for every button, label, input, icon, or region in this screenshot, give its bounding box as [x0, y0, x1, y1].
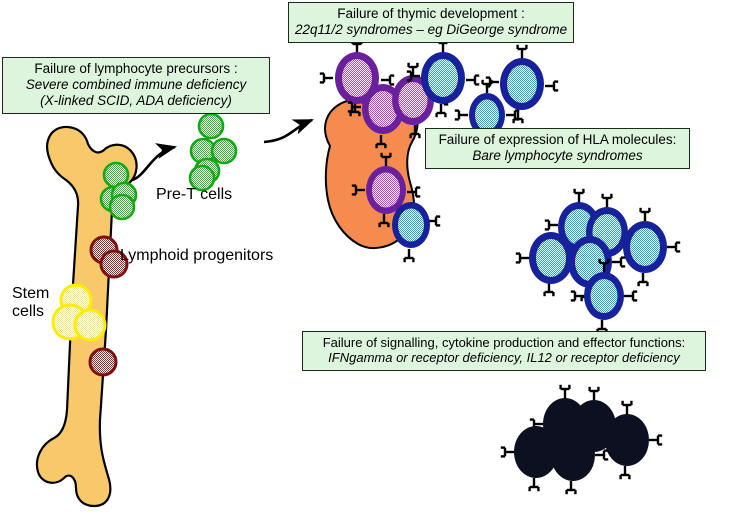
callout-lymphocyte-precursors: Failure of lymphocyte precursors : Sever…: [2, 57, 270, 114]
effector-t-cell-black: [605, 401, 662, 479]
arrow-pre-t-to-thymus: [264, 120, 312, 142]
callout-line-1: Failure of expression of HLA molecules:: [432, 132, 683, 148]
callout-line-1: Failure of thymic development :: [295, 6, 567, 22]
callout-line-2: Bare lymphocyte syndromes: [432, 148, 683, 164]
callout-line-2: IFNgamma or receptor deficiency, IL12 or…: [309, 350, 699, 365]
callout-line-3: (X-linked SCID, ADA deficiency): [9, 93, 263, 109]
callout-line-1: Failure of signalling, cytokine producti…: [309, 335, 699, 350]
callout-signalling-failure: Failure of signalling, cytokine producti…: [302, 331, 706, 371]
callout-thymic-development: Failure of thymic development : 22q11/2 …: [288, 2, 574, 43]
callout-line-1: Failure of lymphocyte precursors :: [9, 61, 263, 77]
callout-hla-expression: Failure of expression of HLA molecules: …: [425, 128, 690, 169]
label-lymphoid-progenitors: Lymphoid progenitors: [120, 247, 273, 265]
mature-t-cell-blue: [516, 232, 573, 296]
callout-line-2: 22q11/2 syndromes – eg DiGeorge syndrome: [295, 22, 567, 38]
label-pre-t-cells: Pre-T cells: [156, 186, 232, 204]
effector-t-cell-black: [501, 426, 558, 491]
diagram-canvas: Failure of thymic development : 22q11/2 …: [0, 0, 740, 524]
label-stem-cells: Stem cells: [12, 285, 49, 321]
mature-t-cell-blue: [392, 202, 440, 262]
arrow-marrow-to-pre-t: [132, 147, 175, 180]
callout-line-2: Severe combined immune deficiency: [9, 77, 263, 93]
mature-t-cell-blue: [623, 208, 680, 286]
pre-t-cells: [190, 114, 236, 190]
